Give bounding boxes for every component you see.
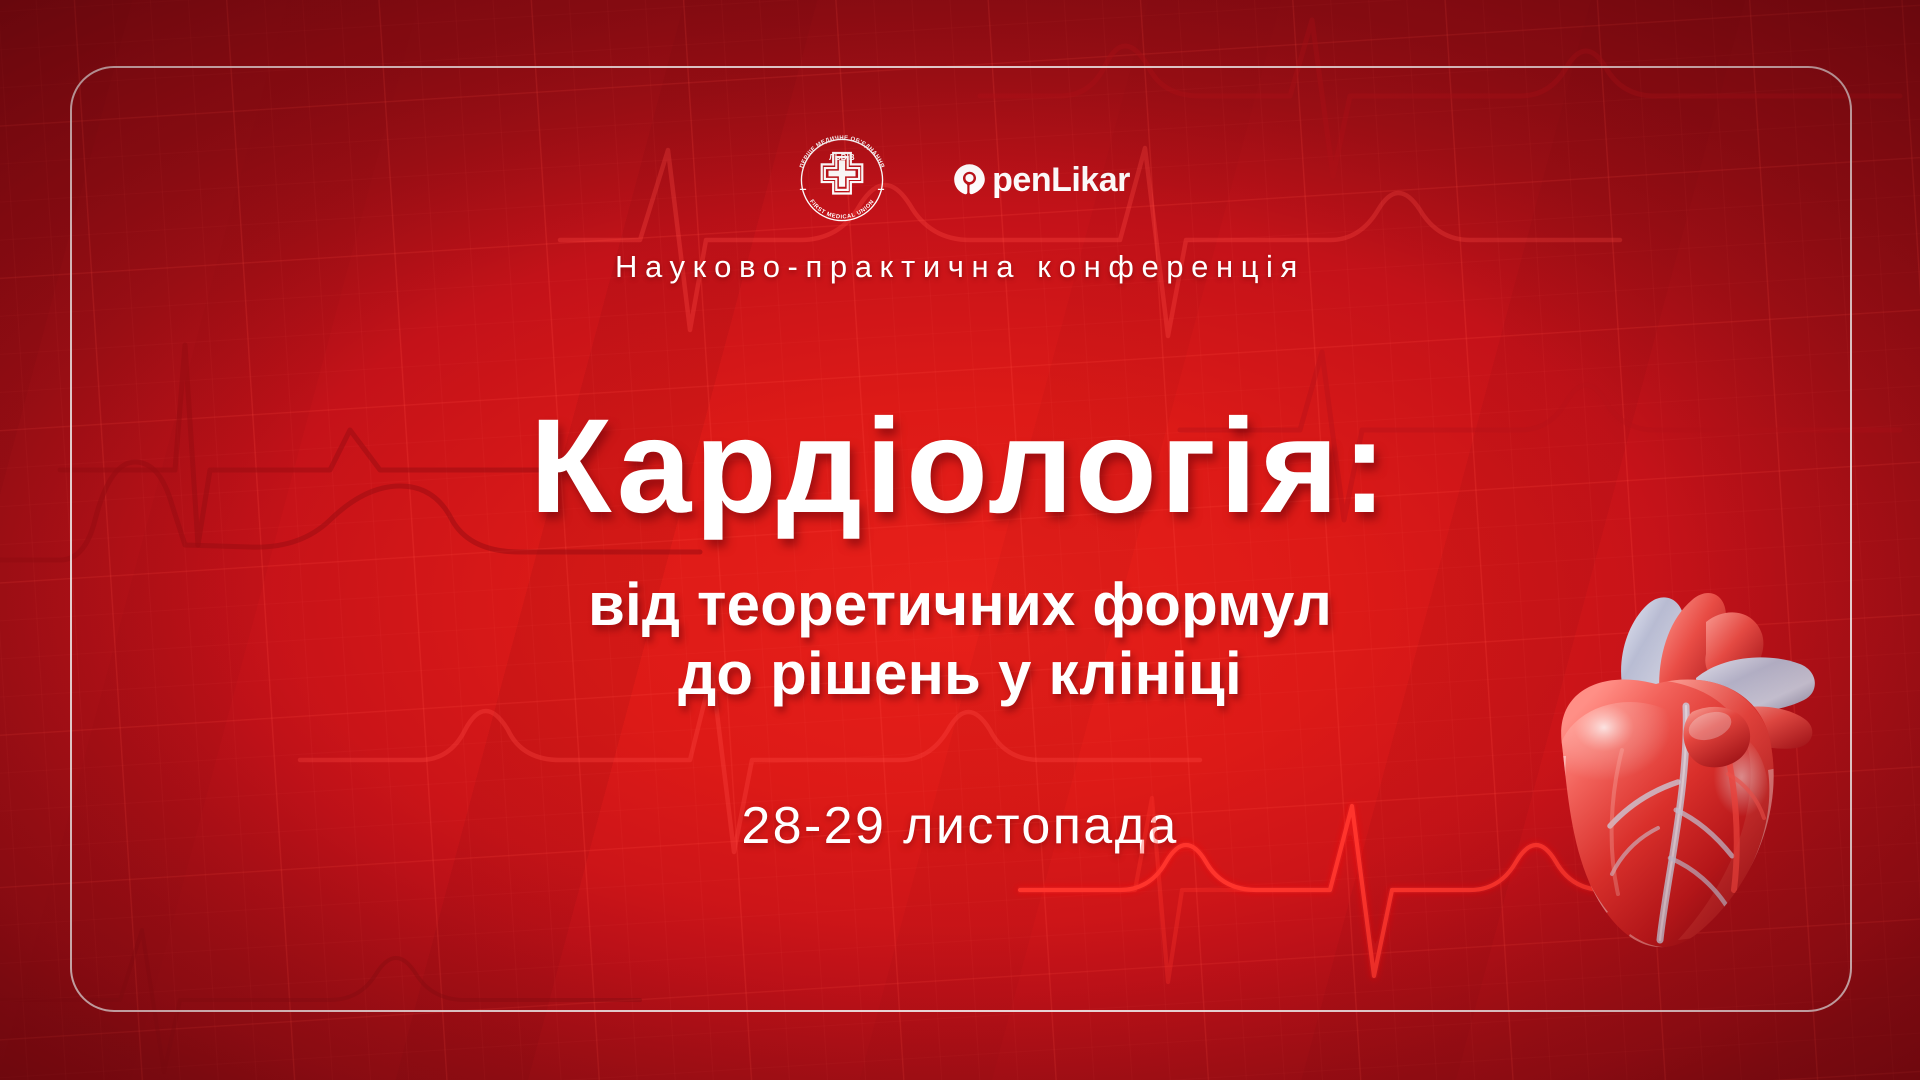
fmu-center-text: ЛЬВІВ — [829, 153, 855, 162]
conference-overline: Науково-практична конференція — [0, 249, 1920, 285]
openlikar-wordmark: penLikar — [992, 163, 1130, 197]
first-medical-union-logo: ЛЬВІВ ПЕРШЕ МЕДИЧНЕ ОБ'ЄДНАННЯ FIRST MED… — [790, 128, 894, 232]
fmu-arc-bottom-text: FIRST MEDICAL UNION — [808, 199, 876, 221]
event-date: 28-29 листопада — [0, 796, 1920, 856]
page-subtitle: від теоретичних формул до рішень у кліні… — [0, 570, 1920, 708]
logo-row: ЛЬВІВ ПЕРШЕ МЕДИЧНЕ ОБ'ЄДНАННЯ FIRST MED… — [0, 128, 1920, 232]
location-pin-o-icon — [952, 162, 987, 197]
openlikar-logo: penLikar — [952, 162, 1130, 199]
conference-banner: ЛЬВІВ ПЕРШЕ МЕДИЧНЕ ОБ'ЄДНАННЯ FIRST MED… — [0, 0, 1920, 1080]
subtitle-line-1: від теоретичних формул — [588, 571, 1332, 638]
page-title: Кардіологія: — [0, 395, 1920, 540]
subtitle-line-2: до рішень у клініці — [0, 639, 1920, 708]
